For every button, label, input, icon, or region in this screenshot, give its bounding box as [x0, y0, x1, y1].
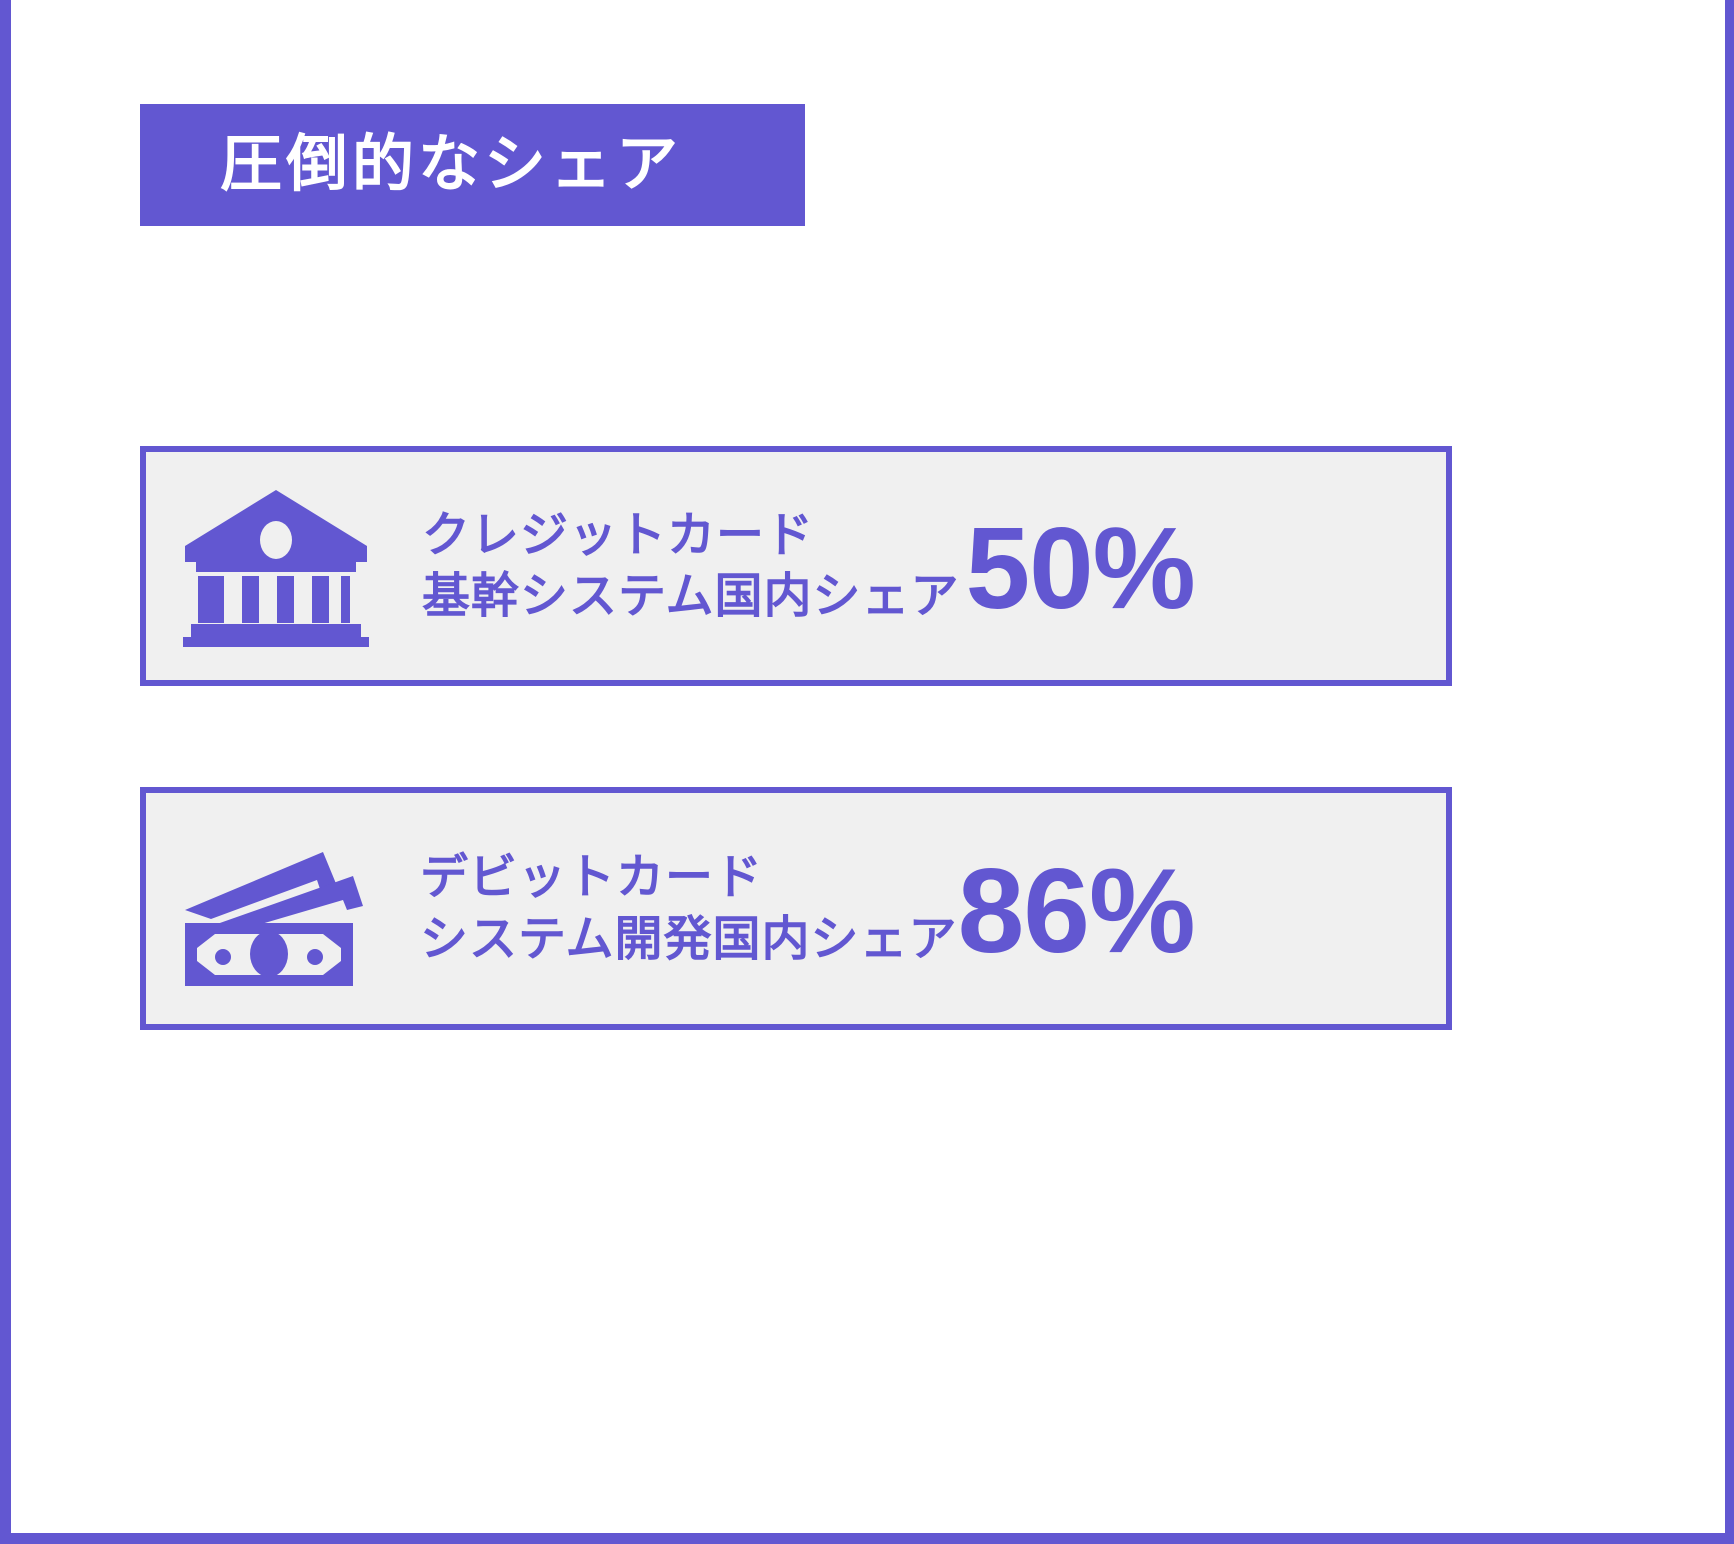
- stat-card-debit-label-line1: デビットカード: [420, 847, 958, 908]
- stat-card-credit: クレジットカード 基幹システム国内シェア 50%: [140, 446, 1452, 686]
- stat-card-debit-label: デビットカード システム開発国内シェア: [420, 847, 958, 970]
- stat-card-credit-label: クレジットカード 基幹システム国内シェア: [422, 505, 960, 628]
- page-border-right: [1725, 0, 1734, 1544]
- banknotes-icon: [146, 824, 406, 994]
- page-border-left: [0, 0, 11, 1544]
- stat-card-debit-value: 86%: [958, 851, 1195, 971]
- stat-card-debit: デビットカード システム開発国内シェア 86%: [140, 787, 1452, 1030]
- page-title: 圧倒的なシェア: [220, 134, 682, 196]
- stat-card-credit-label-line1: クレジットカード: [422, 505, 960, 566]
- stat-card-debit-label-line2: システム開発国内シェア: [420, 909, 958, 970]
- page-border-bottom: [0, 1533, 1734, 1544]
- infographic-page: 圧倒的なシェア クレジットカード 基幹シス: [0, 0, 1734, 1544]
- stat-card-credit-value: 50%: [966, 510, 1195, 626]
- title-banner: 圧倒的なシェア: [140, 104, 805, 226]
- bank-icon: [146, 484, 406, 649]
- stat-card-credit-label-line2: 基幹システム国内シェア: [422, 566, 960, 627]
